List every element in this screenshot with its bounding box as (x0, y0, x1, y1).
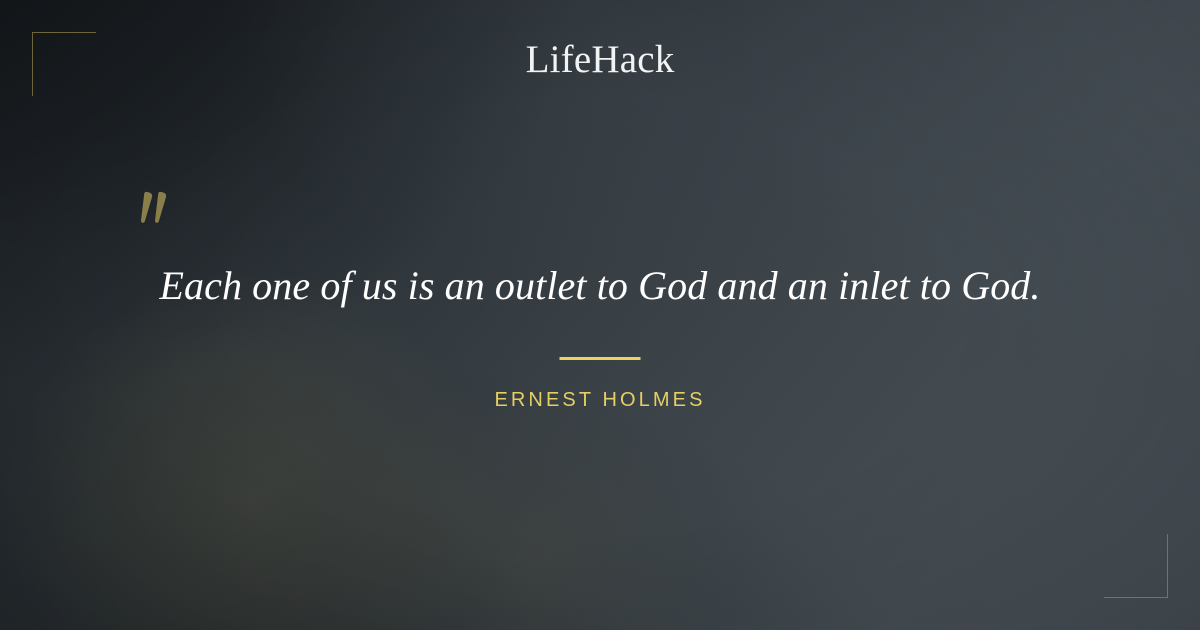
background-soft-top-glow (0, 0, 1200, 630)
quote-text: Each one of us is an outlet to God and a… (60, 260, 1140, 312)
background-warm-glow-secondary (0, 0, 1200, 630)
background-dark-corner-glow (0, 0, 1200, 630)
background-base-gradient (0, 0, 1200, 630)
double-quote-icon (138, 190, 172, 236)
background-bright-corner-glow (0, 0, 1200, 630)
background-bottom-shade (0, 0, 1200, 630)
brand-logo-lifehack: LifeHack (0, 39, 1200, 81)
divider-rule (560, 357, 641, 360)
corner-bracket-bottom-right-icon (1104, 534, 1168, 598)
quote-author: ERNEST HOLMES (0, 388, 1200, 412)
background-vignette (0, 0, 1200, 630)
quote-card: LifeHack Each one of us is an outlet to … (0, 0, 1200, 630)
background-warm-glow (0, 0, 1200, 630)
